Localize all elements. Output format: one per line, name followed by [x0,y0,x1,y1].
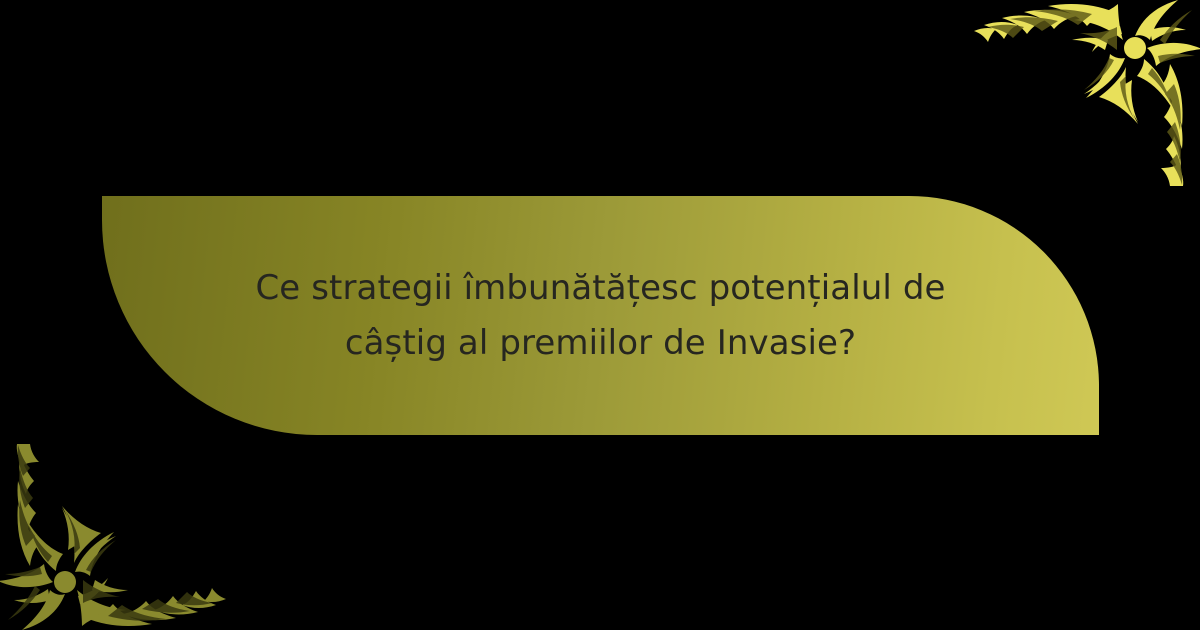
question-text: Ce strategii îmbunătățesc potențialul de… [102,260,1099,370]
question-banner: Ce strategii îmbunătățesc potențialul de… [102,196,1099,435]
question-card: Ce strategii îmbunătățesc potențialul de… [0,0,1200,630]
